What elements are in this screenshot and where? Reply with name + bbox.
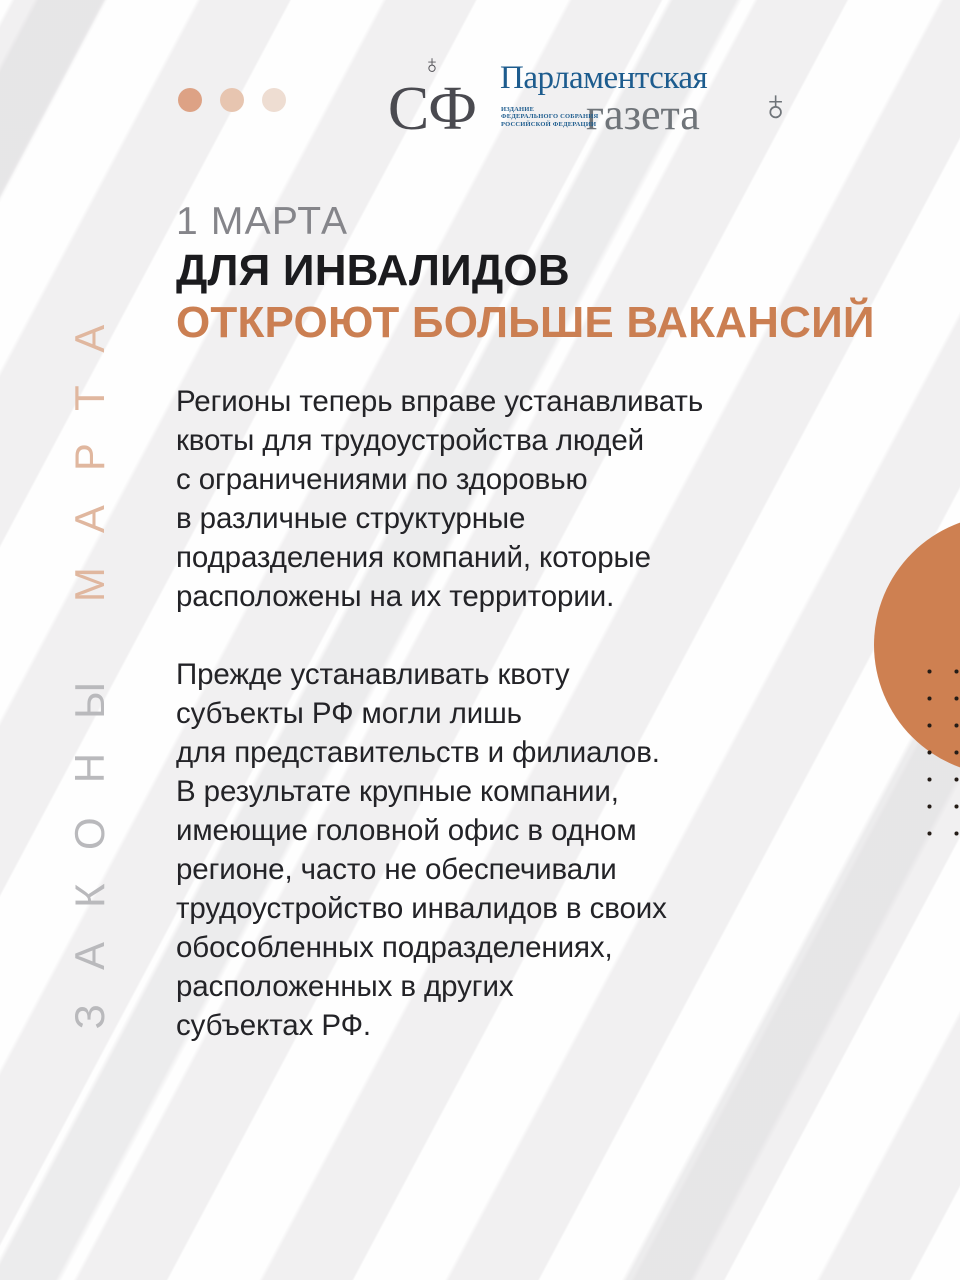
- sf-logo-letters: СФ: [374, 78, 490, 140]
- decorative-dot-grid: [912, 654, 960, 854]
- headline-kicker-date: 1 МАРТА: [176, 198, 936, 245]
- headline-line-primary: ДЛЯ ИНВАЛИДОВ: [176, 245, 936, 297]
- vertical-series-label: ЗАКОНЫ МАРТА: [55, 260, 125, 1060]
- vertical-series-label-text: ЗАКОНЫ МАРТА: [69, 291, 111, 1030]
- headline-line-accent: ОТКРОЮТ БОЛЬШЕ ВАКАНСИЙ: [176, 297, 936, 349]
- vertical-label-gray-part: ЗАКОНЫ: [66, 602, 113, 1029]
- social-card: ♁ СФ Парламентская газета ИЗДАНИЕ ФЕДЕРА…: [0, 0, 960, 1280]
- parlamentskaya-gazeta-logo: Парламентская газета ИЗДАНИЕ ФЕДЕРАЛЬНОГ…: [500, 62, 800, 144]
- double-eagle-icon: ♁: [374, 50, 490, 78]
- body-paragraph-1: Регионы теперь вправе устанавливать квот…: [176, 382, 896, 616]
- double-eagle-icon: ♁: [759, 84, 792, 128]
- headline-block: 1 МАРТА ДЛЯ ИНВАЛИДОВ ОТКРОЮТ БОЛЬШЕ ВАК…: [176, 198, 936, 349]
- decorative-dots-row: [178, 88, 286, 112]
- vertical-label-orange-part: МАРТА: [66, 291, 113, 602]
- deco-dot-1: [178, 88, 202, 112]
- deco-dot-3: [262, 88, 286, 112]
- body-paragraph-2: Прежде устанавливать квоту субъекты РФ м…: [176, 655, 896, 1045]
- card-header: ♁ СФ Парламентская газета ИЗДАНИЕ ФЕДЕРА…: [0, 0, 960, 160]
- body-copy-block: Регионы теперь вправе устанавливать квот…: [176, 382, 896, 1045]
- deco-dot-2: [220, 88, 244, 112]
- pg-logo-subtitle: ИЗДАНИЕ ФЕДЕРАЛЬНОГО СОБРАНИЯ РОССИЙСКОЙ…: [501, 106, 598, 128]
- sovet-federacii-logo: ♁ СФ: [374, 50, 490, 140]
